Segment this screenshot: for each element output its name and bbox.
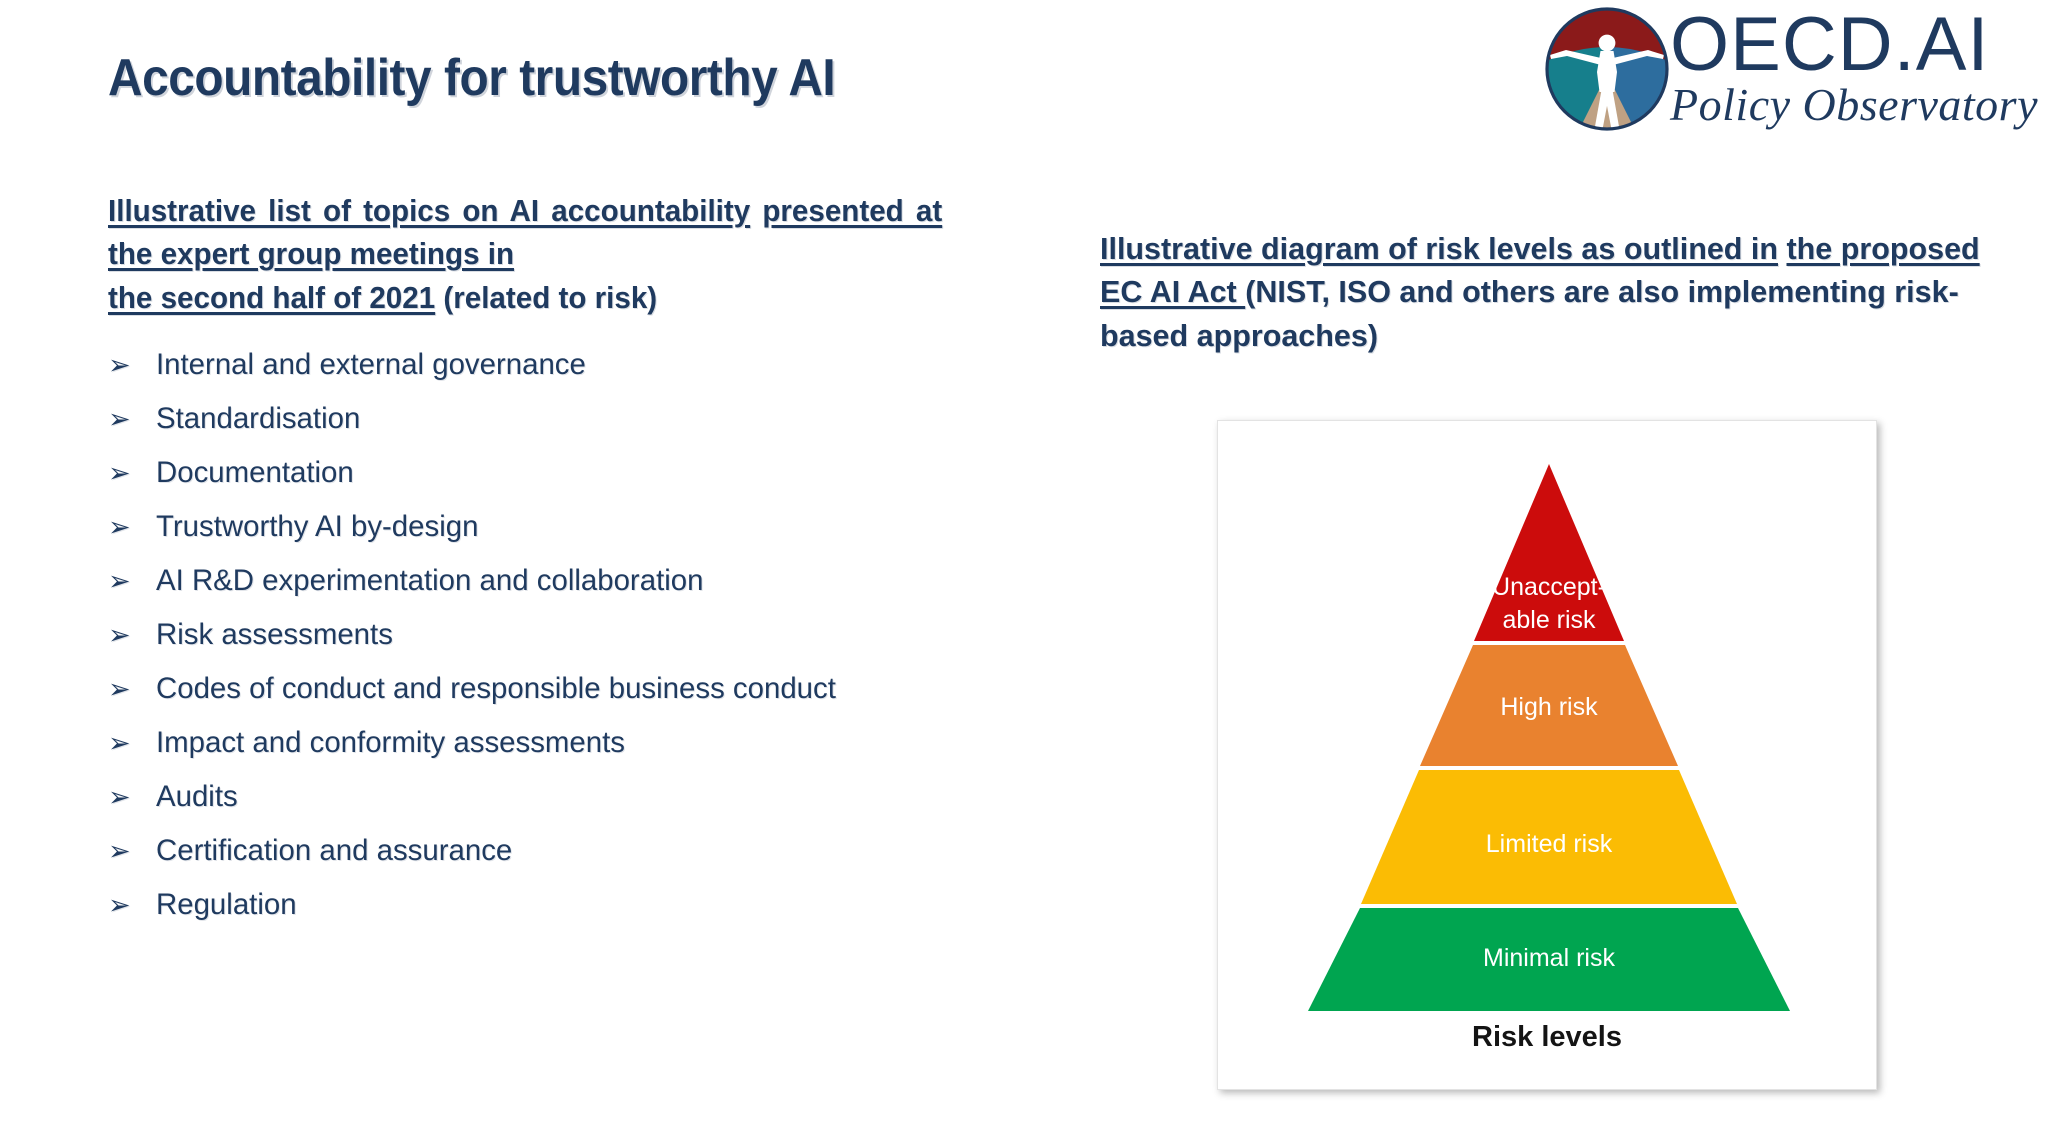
list-item: ➢ Audits	[108, 782, 968, 812]
page-title: Accountability for trustworthy AI	[108, 48, 835, 108]
heading-suffix: (related to risk)	[435, 281, 657, 315]
left-column: Illustrative list of topics on AI accoun…	[108, 190, 968, 944]
list-item-label: Audits	[156, 782, 952, 812]
logo-wordmark: OECD.AI	[1670, 10, 2038, 80]
list-item: ➢ Regulation	[108, 890, 968, 920]
list-item-label: AI R&D experimentation and collaboration	[156, 566, 952, 596]
tier-label-minimal-risk: Minimal risk	[1483, 944, 1615, 972]
left-column-heading: Illustrative list of topics on AI accoun…	[108, 190, 942, 320]
arrow-bullet-icon: ➢	[108, 352, 156, 379]
risk-levels-caption: Risk levels	[1218, 1021, 1876, 1054]
list-item: ➢ Trustworthy AI by-design	[108, 512, 968, 542]
list-item: ➢ Risk assessments	[108, 620, 968, 650]
arrow-bullet-icon: ➢	[108, 784, 156, 811]
logo-tagline: Policy Observatory	[1670, 82, 2038, 128]
list-item: ➢ Internal and external governance	[108, 350, 968, 380]
arrow-bullet-icon: ➢	[108, 838, 156, 865]
list-item: ➢ Certification and assurance	[108, 836, 968, 866]
tier-label-unacceptable-risk-line2: able risk	[1502, 606, 1596, 634]
list-item-label: Documentation	[156, 458, 952, 488]
tier-label-unacceptable-risk-line1: Unaccept-	[1492, 573, 1606, 601]
list-item: ➢ AI R&D experimentation and collaborati…	[108, 566, 968, 596]
arrow-bullet-icon: ➢	[108, 622, 156, 649]
list-item: ➢ Impact and conformity assessments	[108, 728, 968, 758]
list-item-label: Impact and conformity assessments	[156, 728, 952, 758]
list-item-label: Codes of conduct and responsible busines…	[156, 674, 952, 704]
list-item-label: Trustworthy AI by-design	[156, 512, 952, 542]
right-heading-line-1: Illustrative diagram of risk levels as o…	[1100, 232, 1778, 266]
arrow-bullet-icon: ➢	[108, 676, 156, 703]
list-item: ➢ Documentation	[108, 458, 968, 488]
arrow-bullet-icon: ➢	[108, 730, 156, 757]
arrow-bullet-icon: ➢	[108, 892, 156, 919]
risk-pyramid-diagram: Unaccept- able risk High risk Limited ri…	[1218, 421, 1878, 1021]
tier-label-high-risk: High risk	[1500, 693, 1598, 721]
accountability-topics-list: ➢ Internal and external governance ➢ Sta…	[108, 350, 968, 920]
arrow-bullet-icon: ➢	[108, 460, 156, 487]
list-item: ➢ Standardisation	[108, 404, 968, 434]
heading-line-1: Illustrative list of topics on AI accoun…	[108, 194, 750, 228]
tier-label-limited-risk: Limited risk	[1486, 830, 1613, 858]
list-item-label: Certification and assurance	[156, 836, 952, 866]
oecd-emblem-icon	[1544, 6, 1670, 132]
list-item-label: Standardisation	[156, 404, 952, 434]
arrow-bullet-icon: ➢	[108, 568, 156, 595]
right-column: Illustrative diagram of risk levels as o…	[1100, 228, 2000, 358]
list-item-label: Risk assessments	[156, 620, 952, 650]
risk-pyramid-card: Unaccept- able risk High risk Limited ri…	[1217, 420, 1877, 1090]
heading-line-3: the second half of 2021	[108, 281, 435, 315]
right-heading-suffix: (NIST, ISO and others	[1245, 275, 1555, 309]
arrow-bullet-icon: ➢	[108, 406, 156, 433]
list-item: ➢ Codes of conduct and responsible busin…	[108, 674, 968, 704]
oecd-ai-logo: OECD.AI Policy Observatory	[1544, 6, 2038, 132]
right-column-heading: Illustrative diagram of risk levels as o…	[1100, 228, 2000, 358]
list-item-label: Regulation	[156, 890, 952, 920]
list-item-label: Internal and external governance	[156, 350, 952, 380]
arrow-bullet-icon: ➢	[108, 514, 156, 541]
